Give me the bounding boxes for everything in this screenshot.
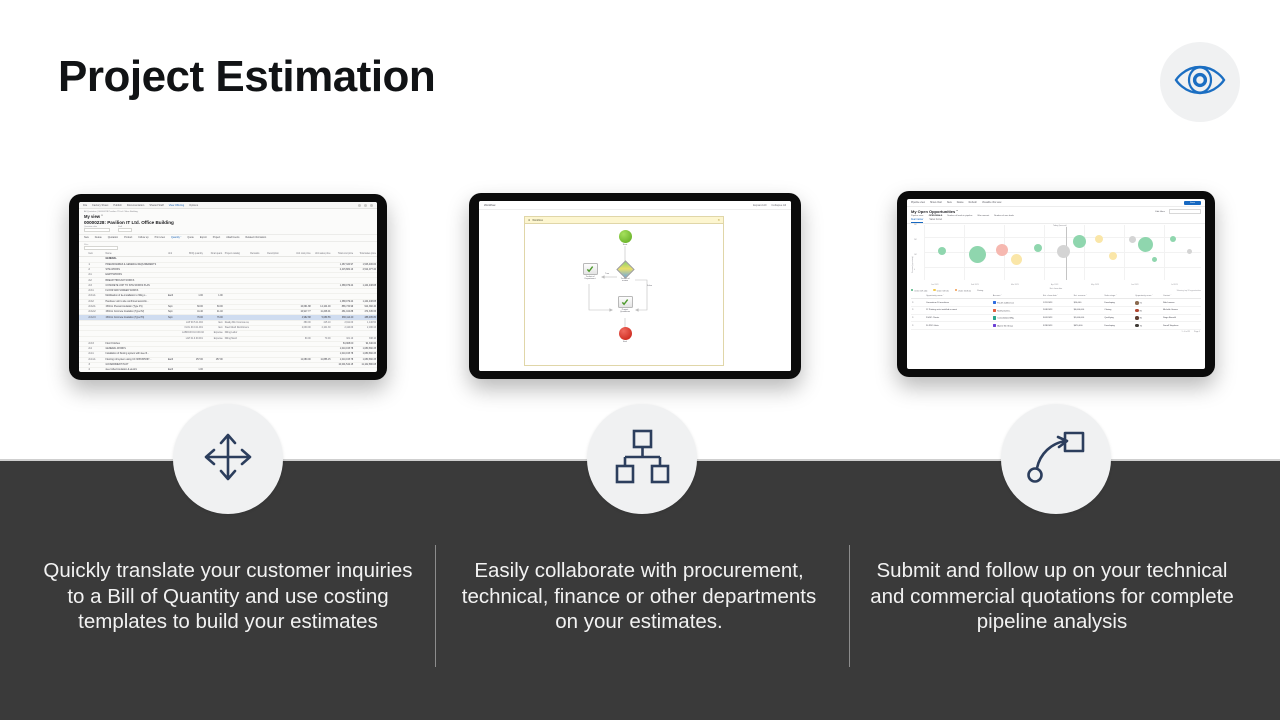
chart-bubble[interactable] [969,246,986,263]
chart-today-label: Today (forecast) [1053,225,1067,227]
chart-bubble[interactable] [1170,236,1176,242]
crm-bubble-chart[interactable]: Revenue (opportunity) Today (forecast) E… [911,225,1201,288]
erp-toolbar-item[interactable]: Delete [95,236,102,239]
row-checkbox[interactable]: □ [911,314,925,322]
erp-field-input[interactable] [84,228,110,232]
feature-caption-1: Quickly translate your customer inquirie… [38,558,418,635]
workflow-node-label: Technical Department [571,276,609,281]
erp-toolbar-item[interactable]: Export [200,236,207,239]
erp-app: File Factory Sheet Publish Documentation… [79,202,377,372]
erp-table-body: GENERAL1PRELIMINARIES & GENERAL REQUIREM… [79,257,377,372]
avatar [1135,324,1139,328]
crm-chip-value[interactable]: OPEN DEALS [929,215,943,217]
chart-bubble[interactable] [1152,257,1157,262]
account-icon [993,324,996,327]
crm-search-input[interactable] [1169,209,1201,214]
record-count: 1 - 4 of 21 [1181,331,1190,333]
crm-title-actions[interactable]: Edit filters [1155,209,1201,214]
account-icon [993,309,996,312]
crm-app: Pipeline view Show chart New Delete Refr… [907,199,1205,369]
chart-x-tick: Jul 2023 [1171,284,1178,286]
table-cell: Closing [1103,307,1134,315]
chart-bubble[interactable] [1187,249,1192,254]
erp-toolbar-item-active[interactable]: Quantity ˇ [171,236,181,239]
table-cell: 1.00 [181,368,204,372]
erp-field-row: Quotation date Staff [79,226,377,234]
erp-ribbon-item[interactable]: Documentation [127,204,144,207]
start-node-icon [619,230,632,243]
preview-eye-badge[interactable] [1160,42,1240,122]
crm-nav-item[interactable]: Delete [957,201,964,204]
column-divider-2 [849,545,850,667]
window-dot-icon [364,204,367,207]
erp-field-input[interactable] [118,228,132,232]
chart-bubble[interactable] [1011,254,1022,265]
workflow-node-technical-department[interactable]: Technical Department [571,263,609,280]
crm-save-button[interactable]: Save [1184,201,1201,205]
erp-ribbon-item[interactable]: Factory Sheet [92,204,108,207]
legend-note: Showing top 20 opportunities [1177,290,1201,292]
table-cell: $10,000 [1073,299,1104,307]
chart-bubble[interactable] [1109,252,1117,260]
workflow-edge-label-false: False [647,285,652,287]
feature-circle-1[interactable] [173,404,283,514]
legend-swatch-icon [933,289,935,291]
row-checkbox[interactable]: □ [911,299,925,307]
chart-x-tick: Jun 2023 [1131,284,1138,286]
table-row[interactable]: □20 PRO UnitsAlpine Ski Group3/28/2023$6… [911,322,1201,330]
workflow-node-label: Start [607,244,643,246]
crm-chip[interactable]: Won amount [977,215,989,217]
table-row[interactable]: □2 HRC ClientsConsolidated Mfg.3/05/2023… [911,314,1201,322]
erp-toolbar-item[interactable]: Print view [155,236,165,239]
crm-chip[interactable]: Number of won leads [994,215,1014,217]
slide-root: Project Estimation File Factory Sheet Pu… [0,0,1280,720]
window-dot-icon [370,204,373,207]
erp-filter-input[interactable] [84,246,118,250]
chart-bubble[interactable] [1138,237,1153,252]
table-cell: 12 Printing units installed account [925,307,992,315]
row-checkbox[interactable]: □ [911,307,925,315]
avatar [1135,301,1139,305]
table-cell: 20 PRO Units [925,322,992,330]
account-icon [993,316,996,319]
tab-deal-tracker[interactable]: Deal tracker [911,219,923,223]
legend-item: Closing [977,290,983,292]
erp-toolbar-item[interactable]: Quote [187,236,194,239]
feature-circle-3[interactable] [1001,404,1111,514]
table-cell [224,368,250,372]
erp-field-quotation-date[interactable]: Quotation date [84,226,110,233]
chart-bubble[interactable] [1034,244,1042,252]
tablet-mockup-erp: File Factory Sheet Publish Documentation… [69,194,387,380]
table-cell [249,368,266,372]
erp-toolbar-item[interactable]: Attachments [226,236,239,239]
feature-caption-2: Easily collaborate with procurement, tec… [449,558,829,635]
hierarchy-chart-icon [611,428,673,491]
chart-y-tick: 3M [914,224,917,226]
table-cell [79,368,88,372]
legend-item: Under 10K (10) [911,289,927,292]
table-cell: Fourth Coffee Ltd. [992,299,1042,307]
screen-crm: Pipeline view Show chart New Delete Refr… [907,199,1205,369]
workflow-canvas-title: Workflow [532,219,543,222]
chart-x-tick: Apr 2023 [1051,284,1058,286]
legend-item: Under 50K (6) [933,289,948,292]
erp-ribbon[interactable]: File Factory Sheet Publish Documentation… [79,202,377,209]
crm-view-title[interactable]: My Open Opportunities ˇ [911,209,958,214]
table-cell: Qualifying [1103,314,1134,322]
legend-swatch-icon [955,289,957,291]
erp-toolbar-item[interactable]: Quotation [108,236,118,239]
legend-item: Under 100K (4) [955,289,971,292]
tab-sales-funnel[interactable]: Sales funnel [929,219,942,223]
erp-document-title: 00000228: Pavilion IT Ltd. Office Buildi… [79,219,377,226]
crm-nav-item[interactable]: Refresh [969,201,977,204]
table-cell: 3/28/2023 [1042,322,1073,330]
crm-nav-item[interactable]: Pipeline view [911,201,925,204]
curved-arrow-to-square-icon [1025,428,1087,491]
legend-label: Closing [977,290,983,292]
table-cell: Michelle Graves [1162,307,1201,315]
table-cell: $670,000 [1073,322,1104,330]
screen-workflow: Workflow Expand All Collapse All ⚙ Workf… [479,201,791,371]
crm-nav-item[interactable]: Show chart [930,201,942,204]
erp-toolbar-item[interactable]: Project [213,236,220,239]
tablet-mockup-crm: Pipeline view Show chart New Delete Refr… [897,191,1215,377]
tablet-mockup-workflow: Workflow Expand All Collapse All ⚙ Workf… [469,193,801,379]
table-cell: 85 [1134,307,1162,315]
workflow-header-title: Workflow [484,203,495,207]
four-way-arrows-icon [197,426,259,493]
table-cell [266,368,292,372]
legend-label: Under 10K (10) [914,290,927,292]
table-cell [292,368,312,372]
account-icon [993,301,996,304]
window-dot-icon [358,204,361,207]
erp-toolbar-item[interactable]: Product [124,236,132,239]
workflow-canvas-header: ⚙ Workflow ✕ [525,217,723,224]
crm-command-bar[interactable]: Pipeline view Show chart New Delete Refr… [907,199,1205,207]
erp-estimation-table[interactable]: Item Name Unit BOQ quantity Final quant.… [79,252,377,373]
workflow-node-technical-review[interactable]: Technical review [607,263,643,282]
table-cell: 2 HRC Clients [925,314,992,322]
chart-bubble[interactable] [996,244,1008,256]
crm-table-body: □Consortium 10 machinesFourth Coffee Ltd… [911,299,1201,329]
erp-ribbon-item[interactable]: Shared Staff [149,204,163,207]
crm-chip[interactable]: Number of leads in pipeline [947,215,972,217]
screen-erp: File Factory Sheet Publish Documentation… [79,202,377,372]
table-cell: $1,000,000 [1073,314,1104,322]
crm-nav-item[interactable]: New [947,201,952,204]
erp-toolbar-item[interactable]: New [84,236,89,239]
chart-bubble[interactable] [1057,245,1070,258]
eye-icon [1174,63,1226,102]
erp-toolbar-item[interactable]: Related information [246,236,267,239]
chart-bubble[interactable] [938,247,946,255]
table-row[interactable]: □Consortium 10 machinesFourth Coffee Ltd… [911,299,1201,307]
table-cell: Northwind Inc. [992,307,1042,315]
end-node-icon [619,327,632,340]
workflow-canvas[interactable]: ⚙ Workflow ✕ [524,216,724,366]
legend-label: Under 100K (4) [958,290,971,292]
chart-y-tick: 1M [914,254,917,256]
table-cell [332,368,355,372]
page-indicator[interactable]: Page 1 [1194,331,1200,333]
table-cell: 2/08/2023 [1042,307,1073,315]
chart-y-tick: 2M [914,239,917,241]
crm-title-row: My Open Opportunities ˇ Edit filters [907,207,1205,215]
table-cell: $4,000,000 [1073,307,1104,315]
workflow-node-label: End [607,341,643,343]
chart-x-tick: Feb 2023 [971,284,979,286]
workflow-edge-label-true: True [605,273,609,275]
chart-y-tick: 0 [914,269,915,271]
erp-window-controls[interactable] [358,204,373,207]
table-cell: Each [167,368,181,372]
erp-filter-row: Filter [79,242,377,252]
erp-ribbon-item-active[interactable]: View Offering [169,204,184,207]
chart-bubble[interactable] [1095,235,1103,243]
erp-field-staff[interactable]: Staff [118,226,132,233]
table-cell: Alpine Ski Group [992,322,1042,330]
table-cell: 4 [88,368,105,372]
chart-x-tick: Jan 2023 [931,284,938,286]
erp-ribbon-item[interactable]: Options [189,204,198,207]
erp-ribbon-item[interactable]: File [83,204,87,207]
avatar [1135,309,1139,313]
table-cell [354,368,377,372]
crm-tabs[interactable]: Deal tracker Sales funnel [907,219,1205,224]
table-cell: 91 [1134,299,1162,307]
collapse-all-button[interactable]: Collapse All [771,203,786,207]
table-row[interactable]: □12 Printing units installed accountNort… [911,307,1201,315]
feature-circle-2[interactable] [587,404,697,514]
table-cell: Developing [1103,322,1134,330]
erp-toolbar[interactable]: New Delete Quotation Product Follow up P… [79,234,377,242]
table-cell [204,368,224,372]
workflow-app: Workflow Expand All Collapse All ⚙ Workf… [479,201,791,371]
expand-all-button[interactable]: Expand All [753,203,766,207]
erp-toolbar-item[interactable]: Follow up [138,236,148,239]
chart-bubble[interactable] [1129,236,1136,243]
workflow-node-label: Project Quotations [607,309,643,314]
decision-node-icon [616,260,634,278]
table-cell: Developing [1103,299,1134,307]
crm-nav-item[interactable]: Visualize this view [982,201,1001,204]
table-cell: Consortium 10 machines [925,299,992,307]
table-cell: 80 [1134,314,1162,322]
table-cell [312,368,332,372]
erp-filter-field[interactable]: Filter [84,244,118,251]
crm-chip-label: Pipeline view: [911,215,924,217]
avatar [1135,316,1139,320]
table-cell: 1/21/2023 [1042,299,1073,307]
close-icon[interactable]: ✕ [717,218,720,222]
table-cell: steel rolled insulation & electric [105,368,167,372]
workflow-node-project-quotations[interactable]: Project Quotations [607,296,643,313]
legend-label: Under 50K (6) [937,290,949,292]
table-cell: 76 [1134,322,1162,330]
row-checkbox[interactable]: □ [911,322,925,330]
table-cell: Consolidated Mfg. [992,314,1042,322]
table-cell: Darrell Stephens [1162,322,1201,330]
workflow-node-start[interactable]: Start [607,230,643,246]
workflow-header: Workflow Expand All Collapse All [479,201,791,210]
crm-opportunities-table[interactable]: Opportunity name ˇ Account ˇ Est. close … [911,294,1201,330]
workflow-icon: ⚙ [528,219,530,222]
table-cell: Diego Brunelli [1162,314,1201,322]
task-node-icon [618,296,633,308]
chart-x-tick: May 2023 [1091,284,1099,286]
column-divider-1 [435,545,436,667]
erp-ribbon-item[interactable]: Publish [113,204,122,207]
task-node-icon [583,263,598,275]
edit-filters-button[interactable]: Edit filters [1155,211,1165,213]
chart-x-tick: Mar 2023 [1011,284,1019,286]
crm-table-footer[interactable]: 1 - 4 of 21 Page 1 [907,330,1205,335]
workflow-node-end[interactable]: End [607,327,643,343]
page-title: Project Estimation [58,52,435,103]
feature-caption-3: Submit and follow up on your technical a… [862,558,1242,635]
table-cell: 3/05/2023 [1042,314,1073,322]
table-cell: Rob Lawson [1162,299,1201,307]
workflow-header-actions[interactable]: Expand All Collapse All [753,203,786,207]
table-row[interactable]: 4steel rolled insulation & electricEach1… [79,368,377,372]
chart-x-axis-label: Est. close date [1050,288,1062,290]
